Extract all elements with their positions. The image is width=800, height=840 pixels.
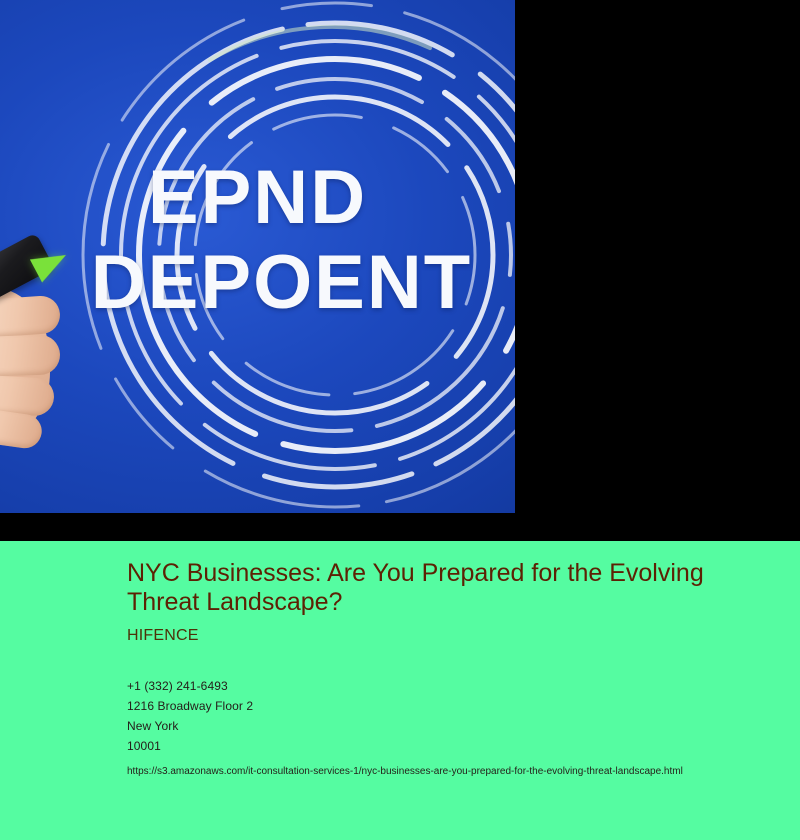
page-title: NYC Businesses: Are You Prepared for the… bbox=[127, 559, 759, 617]
contact-phone: +1 (332) 241-6493 bbox=[127, 676, 760, 696]
finger-shape bbox=[0, 334, 61, 378]
contact-block: +1 (332) 241-6493 1216 Broadway Floor 2 … bbox=[127, 676, 760, 779]
info-content: NYC Businesses: Are You Prepared for the… bbox=[127, 559, 760, 779]
hand-icon bbox=[0, 236, 110, 466]
page-root: EPND DEPOENT NYC Businesses: Are You Pre… bbox=[0, 0, 800, 840]
contact-city: New York bbox=[127, 716, 760, 736]
contact-street: 1216 Broadway Floor 2 bbox=[127, 696, 760, 716]
info-panel: NYC Businesses: Are You Prepared for the… bbox=[0, 541, 800, 840]
finger-shape bbox=[0, 295, 61, 340]
contact-postal-code: 10001 bbox=[127, 736, 760, 756]
source-url-link[interactable]: https://s3.amazonaws.com/it-consultation… bbox=[127, 765, 760, 779]
brand-name: HIFENCE bbox=[127, 626, 760, 646]
hero-image: EPND DEPOENT bbox=[0, 0, 515, 513]
